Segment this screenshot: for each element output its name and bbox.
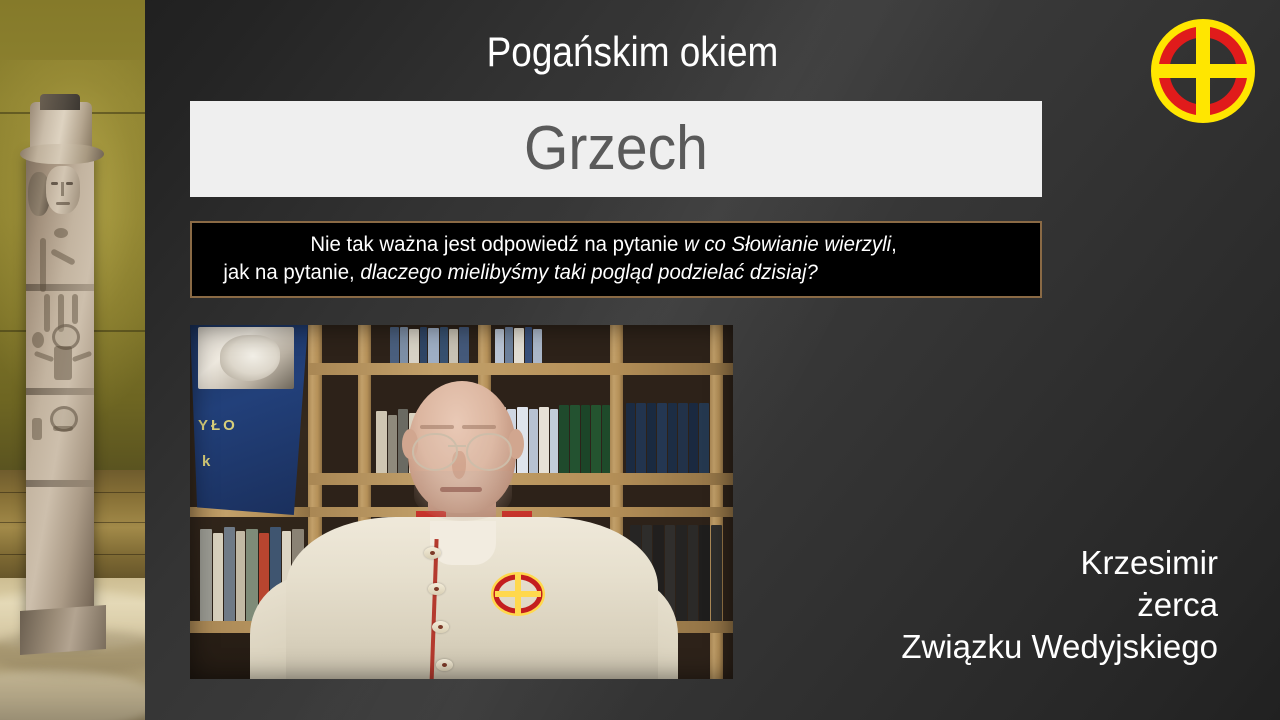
quote-line-2: jak na pytanie, dlaczego mielibyśmy taki…: [202, 259, 1005, 287]
glasses-lens-left: [412, 433, 458, 471]
zbruch-idol: [20, 88, 104, 644]
speaker-role: żerca: [698, 584, 1218, 626]
speaker-credits: Krzesimir żerca Związku Wedyjskiego: [698, 542, 1218, 669]
speaker-name: Krzesimir: [698, 542, 1218, 584]
headline-panel: Grzech: [190, 101, 1042, 197]
person-eyebrow-left: [420, 425, 454, 429]
glasses-bridge: [448, 445, 466, 447]
left-image-strip: [0, 0, 145, 720]
quote-line-2-italic: dlaczego mielibyśmy taki pogląd podziela…: [360, 261, 817, 284]
shirt-collar: [430, 521, 496, 565]
speaker-organization: Związku Wedyjskiego: [698, 626, 1218, 668]
jacket-button: [424, 547, 441, 559]
quote-box: Nie tak ważna jest odpowiedź na pytanie …: [190, 221, 1042, 298]
video-frame[interactable]: YŁO k: [190, 325, 733, 679]
person-mouth: [440, 487, 482, 492]
banner-photo: [198, 327, 294, 389]
glasses-lens-right: [466, 433, 512, 471]
quote-line-1-plain: Nie tak ważna jest odpowiedź na pytanie: [310, 233, 684, 256]
banner-text-line-2: k: [202, 453, 213, 470]
shelf-board: [308, 473, 733, 485]
quote-line-1: Nie tak ważna jest odpowiedź na pytanie …: [202, 231, 1005, 259]
banner-text-line-1: YŁO: [198, 417, 238, 434]
quote-line-1-comma: ,: [891, 233, 897, 256]
person-eyebrow-right: [462, 425, 496, 429]
presentation-slide: Pogańskim okiem Grzech Nie tak ważna jes…: [0, 0, 1280, 720]
quote-line-2-plain: jak na pytanie,: [223, 261, 360, 284]
person-beard: [414, 471, 512, 521]
jacket-button: [432, 621, 449, 633]
jacket-sun-cross-emblem-icon: [490, 571, 546, 617]
headline-text: Grzech: [524, 118, 708, 180]
slide-title: Pogańskim okiem: [204, 30, 1062, 74]
horse-image: [220, 335, 280, 381]
shelf-board: [308, 363, 733, 375]
quote-line-1-italic: w co Słowianie wierzyli: [684, 233, 891, 256]
jacket-button: [436, 659, 453, 671]
sun-cross-emblem-icon: [1151, 19, 1255, 123]
jacket-button: [428, 583, 445, 595]
